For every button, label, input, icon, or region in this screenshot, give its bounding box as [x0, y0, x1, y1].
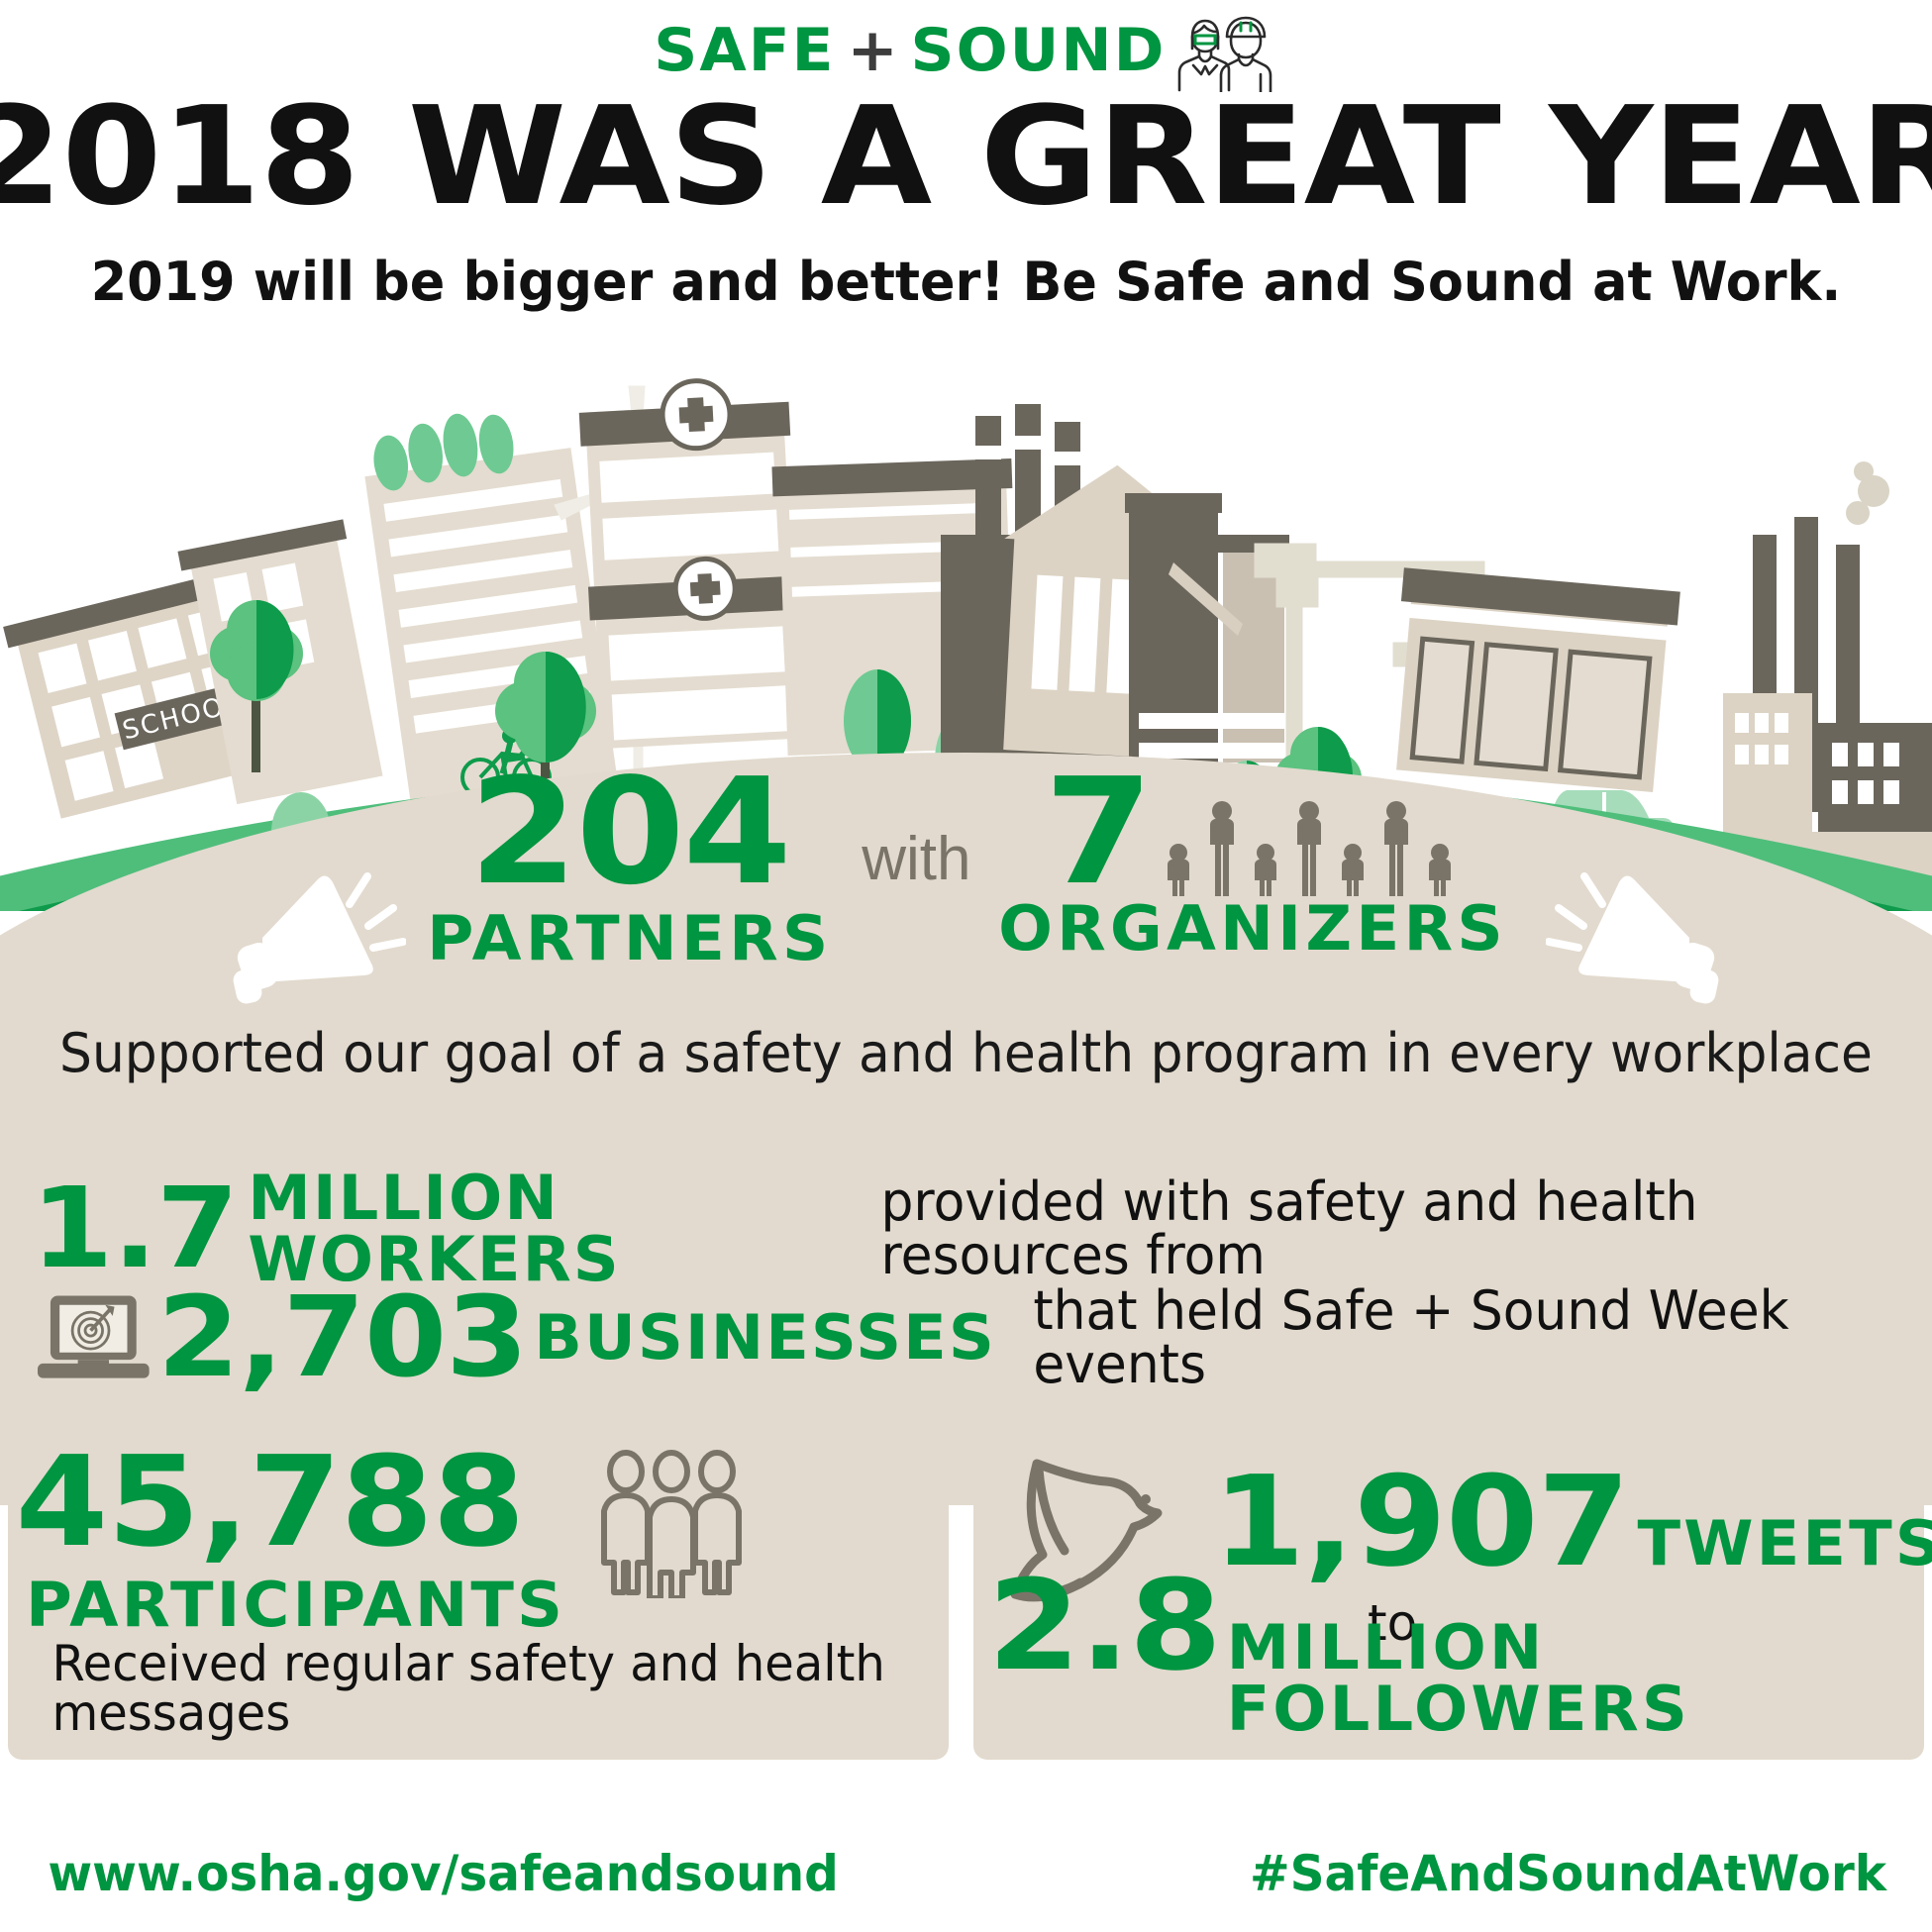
organizers-label: ORGANIZERS — [999, 898, 1508, 960]
logo-word-sound: SOUND — [910, 21, 1166, 80]
smoke-puffs — [1846, 461, 1889, 525]
participants-label: PARTICIPANTS — [26, 1575, 565, 1636]
participants-card: 45,788 PARTICIPANTS Received regular saf… — [8, 1418, 949, 1760]
followers-number: 2.8 — [987, 1564, 1221, 1688]
businesses-text: that held Safe + Sound Week events — [1033, 1284, 1905, 1391]
participants-number: 45,788 — [15, 1440, 575, 1565]
businesses-label: BUSINESSES — [534, 1307, 996, 1369]
followers-label: MILLION FOLLOWERS — [1227, 1617, 1932, 1740]
three-people-group-icon — [592, 1450, 751, 1598]
banner-content: 204 PARTNERS with 7 — [0, 763, 1932, 1129]
businesses-line: 2,703 BUSINESSES that held Safe + Sound … — [38, 1282, 1924, 1393]
person-icon — [1421, 819, 1459, 896]
page-title: 2018 WAS A GREAT YEAR — [0, 89, 1932, 225]
person-icon — [1160, 819, 1197, 896]
person-icon — [1290, 799, 1328, 896]
person-icon — [1377, 799, 1415, 896]
infographic-root: SAFE + SOUND — [0, 0, 1932, 1932]
hashtag[interactable]: #SafeAndSoundAtWork — [1250, 1849, 1886, 1898]
osha-url-link[interactable]: www.osha.gov/safeandsound — [48, 1849, 839, 1898]
participants-footnote: Received regular safety and health messa… — [51, 1639, 930, 1738]
person-icon — [1247, 819, 1284, 896]
person-icon — [1203, 799, 1241, 896]
workers-businesses-band: 1.7 MILLION WORKERS provided with safety… — [8, 1152, 1924, 1404]
partners-label: PARTNERS — [427, 908, 832, 969]
partners-number: 204 — [468, 763, 789, 902]
footer: www.osha.gov/safeandsound #SafeAndSoundA… — [0, 1829, 1932, 1898]
banner-support-text: Supported our goal of a safety and healt… — [39, 1022, 1893, 1084]
workers-label: MILLION WORKERS — [249, 1168, 843, 1290]
connector-with: with — [862, 824, 970, 894]
organizer-person-icons — [1160, 799, 1459, 896]
businesses-number: 2,703 — [156, 1282, 527, 1393]
workers-text: provided with safety and health resource… — [881, 1175, 1903, 1282]
organizers-number: 7 — [1044, 763, 1153, 902]
partners-stat: 204 PARTNERS — [435, 763, 825, 969]
logo-plus-icon: + — [847, 21, 899, 80]
social-card: 1,907 TWEETS to 2.8 MILLION FOLLOWERS — [973, 1418, 1924, 1760]
person-icon — [1334, 819, 1372, 896]
workers-number: 1.7 — [31, 1173, 238, 1284]
logo-word-safe: SAFE — [654, 21, 835, 80]
laptop-target-icon — [38, 1288, 150, 1387]
workers-line: 1.7 MILLION WORKERS provided with safety… — [38, 1168, 1924, 1290]
organizers-stat: 7 — [1008, 763, 1497, 960]
